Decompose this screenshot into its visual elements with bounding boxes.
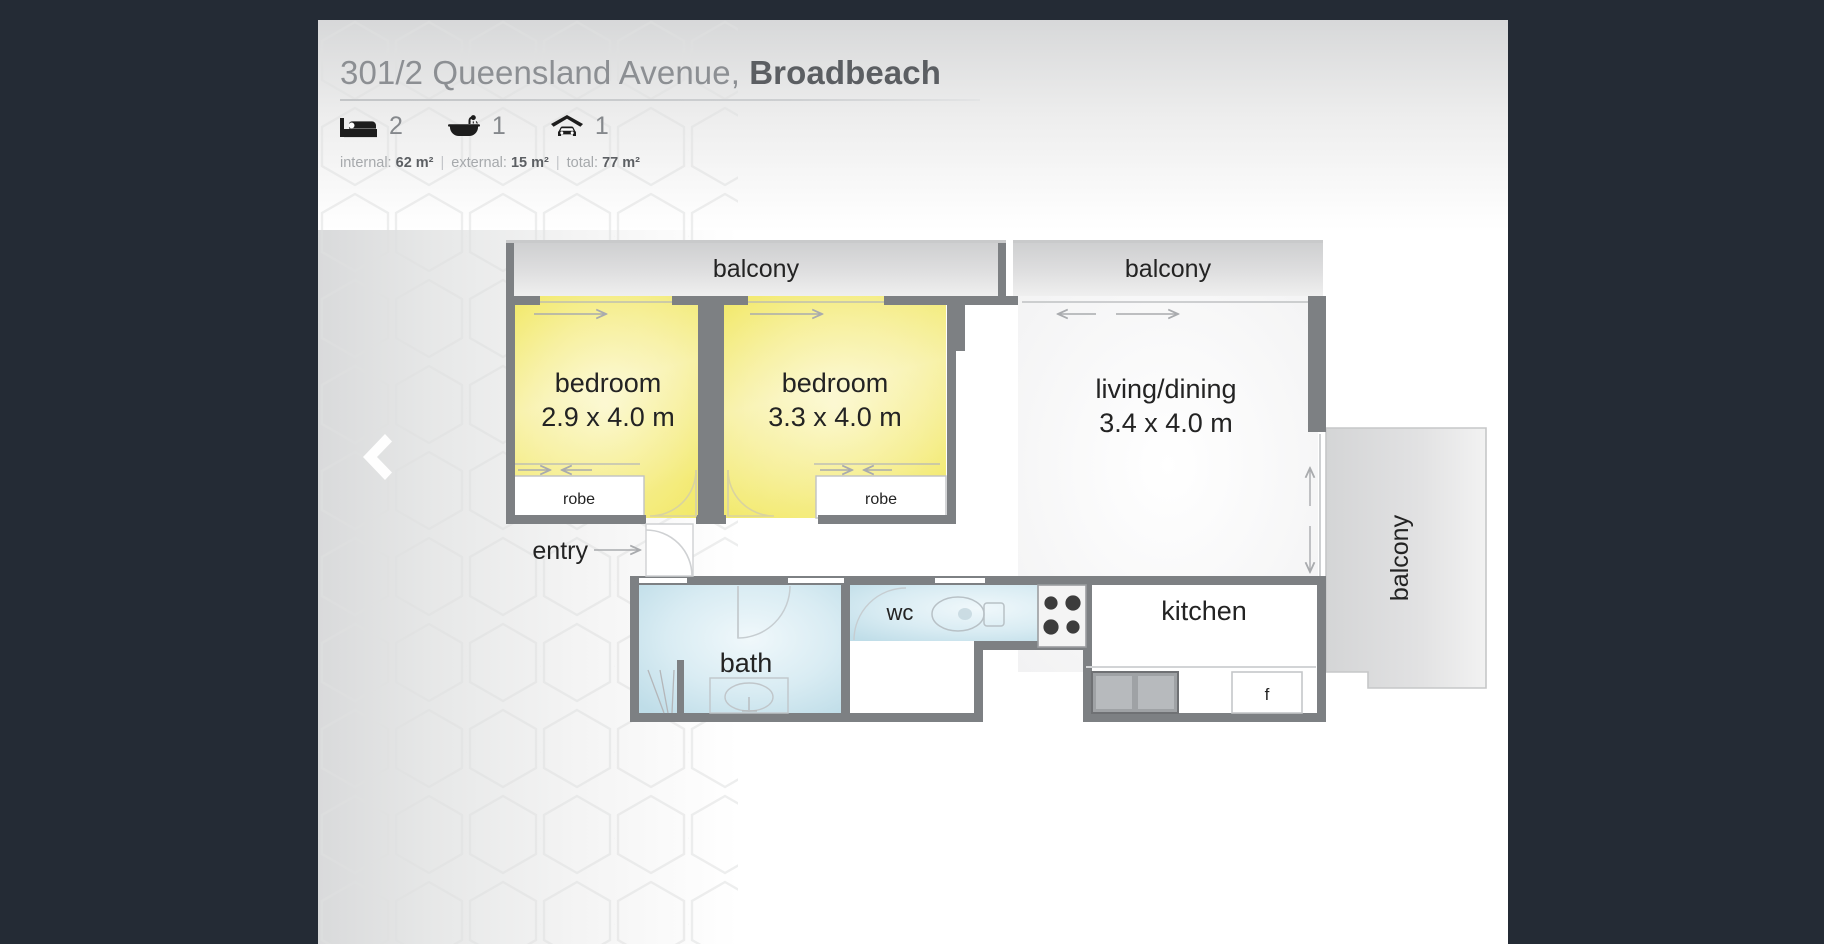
living-dining-label: living/dining [1095,374,1236,404]
garage-icon [550,114,584,140]
balcony-east-label: balcony [1386,514,1414,601]
previous-image-button[interactable] [354,426,400,488]
balcony-north-right-label: balcony [1125,255,1212,283]
feature-bedrooms: 2 [340,112,403,141]
bathrooms-count: 1 [492,112,506,141]
area-separator-2: | [556,155,560,171]
address-street: 301/2 Queensland Avenue, [340,54,749,91]
carspaces-count: 1 [595,112,609,141]
bedroom-1-dims: 2.9 x 4.0 m [541,402,675,432]
balcony-north-left: balcony [506,240,1006,296]
bed-icon [340,116,378,138]
feature-carspaces: 1 [550,112,609,141]
page-title: 301/2 Queensland Avenue, Broadbeach [340,54,1040,92]
bath-icon [447,115,481,139]
external-value: 15 m² [511,155,549,171]
wc-label: wc [886,600,914,625]
bedroom-1: robe bedroom 2.9 x 4.0 m [514,296,698,518]
bath: bath [639,585,841,713]
external-label: external: [451,155,507,171]
bedroom-2-label: bedroom [782,368,889,398]
bedroom-2-dims: 3.3 x 4.0 m [768,402,902,432]
living-dining-dims: 3.4 x 4.0 m [1099,408,1233,438]
listing-header: 301/2 Queensland Avenue, Broadbeach 2 [340,54,1040,171]
address-suburb: Broadbeach [749,54,941,91]
feature-summary: 2 1 [340,112,1040,141]
robe-left-label: robe [563,491,595,508]
area-separator-1: | [441,155,445,171]
area-summary: internal: 62 m²|external: 15 m²|total: 7… [340,155,1040,171]
balcony-north-right: balcony [1013,240,1323,296]
balcony-east: balcony [1326,428,1486,688]
feature-bathrooms: 1 [447,112,506,141]
floorplan-drawing: balcony balcony balcony robe bedroom 2. [488,220,1498,760]
listing-floorplan-card: 301/2 Queensland Avenue, Broadbeach 2 [318,20,1508,944]
entry-label: entry [532,537,588,565]
internal-label: internal: [340,155,392,171]
fridge-label: f [1265,685,1270,704]
bedroom-2: robe bedroom 3.3 x 4.0 m [724,296,946,518]
total-value: 77 m² [602,155,640,171]
image-viewer: 301/2 Queensland Avenue, Broadbeach 2 [0,0,1824,944]
entry-annotation: entry [532,524,693,576]
title-divider [340,99,980,101]
robe-right-label: robe [865,491,897,508]
internal-value: 62 m² [396,155,434,171]
bedrooms-count: 2 [389,112,403,141]
kitchen-label: kitchen [1161,596,1247,626]
bedroom-1-label: bedroom [555,368,662,398]
bath-label: bath [720,648,773,678]
total-label: total: [567,155,598,171]
balcony-north-left-label: balcony [713,255,800,283]
